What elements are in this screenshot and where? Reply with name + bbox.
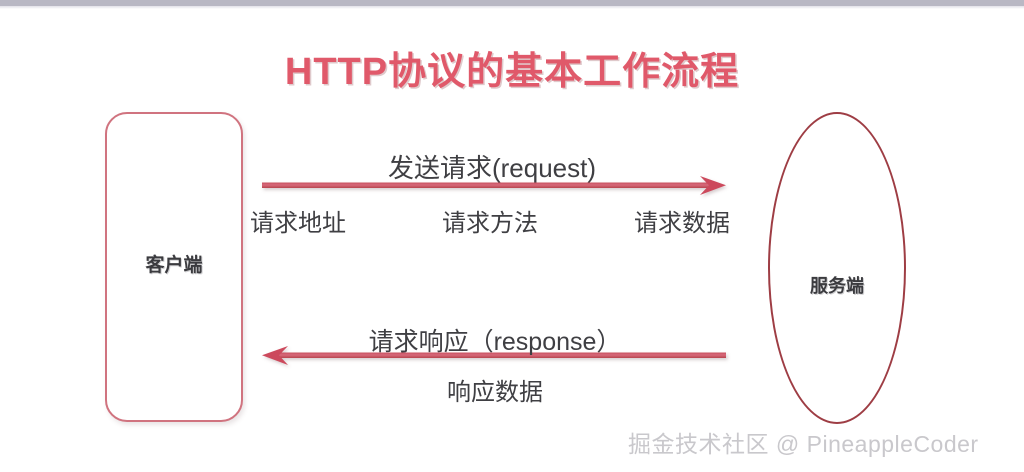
server-node-shape [768,112,906,424]
client-node-label: 客户端 [105,250,243,277]
watermark: 掘金技术社区 @ PineappleCoder [628,425,979,459]
page-title: HTTP协议的基本工作流程 [0,40,1024,95]
request-part-address: 请求地址 [250,203,346,238]
request-flow-label: 发送请求(request) [262,148,722,185]
response-flow-label: 请求响应（response） [262,322,728,358]
request-parts-row: 请求地址 请求方法 请求数据 [250,203,730,238]
request-part-data: 请求数据 [634,203,730,238]
server-node-label: 服务端 [768,272,906,298]
top-edge-fade [0,6,1024,9]
diagram-canvas: HTTP协议的基本工作流程 客户端 服务端 发送请求(reque [0,0,1024,472]
request-part-method: 请求方法 [442,203,538,238]
response-data-label: 响应数据 [262,372,728,407]
